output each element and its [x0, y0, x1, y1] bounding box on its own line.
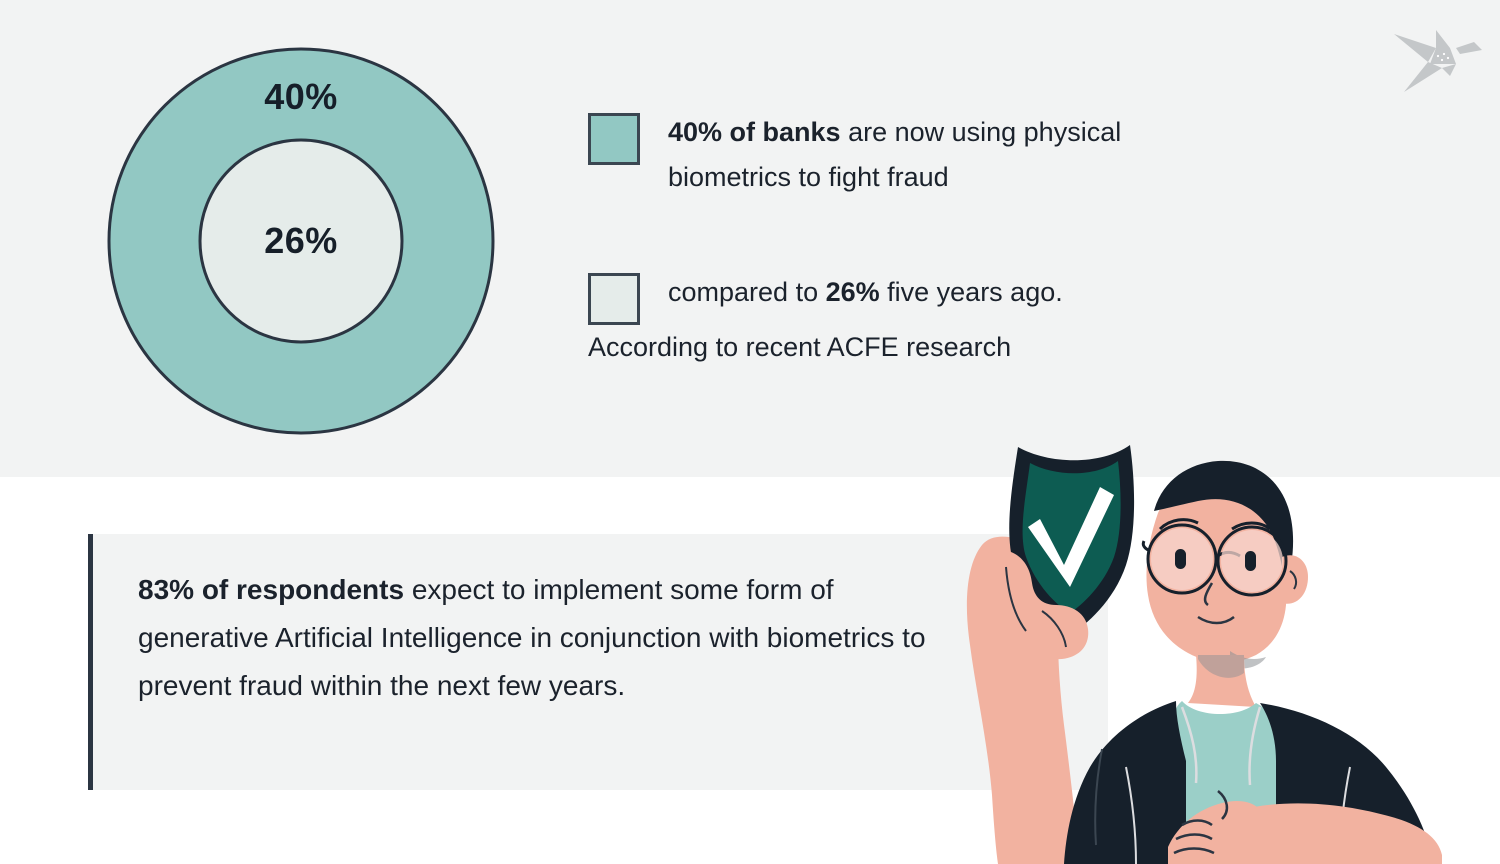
head [1143, 461, 1308, 669]
donut-outer-value: 40% [105, 76, 497, 118]
legend-lead-26: compared to [668, 277, 826, 307]
legend-text-prior: compared to 26% five years ago. [668, 270, 1228, 315]
quote-bold-lead: 83% of respondents [138, 574, 404, 605]
legend-bold-40: 40% of banks [668, 117, 841, 147]
legend-tail-26: five years ago. [880, 277, 1063, 307]
quote-text: 83% of respondents expect to implement s… [138, 566, 958, 710]
origami-bird-icon [1390, 18, 1486, 98]
legend-swatch-mint [588, 273, 640, 325]
infographic-canvas: 40% 26% 40% of banks are now using physi… [0, 0, 1500, 864]
donut-inner-value: 26% [105, 220, 497, 262]
chart-legend: 40% of banks are now using physical biom… [588, 110, 1228, 330]
legend-item-prior: compared to 26% five years ago. [588, 270, 1228, 330]
legend-text-banks: 40% of banks are now using physical biom… [668, 110, 1228, 200]
legend-bold-26: 26% [826, 277, 880, 307]
source-attribution: According to recent ACFE research [588, 332, 1011, 363]
legend-item-banks: 40% of banks are now using physical biom… [588, 110, 1228, 200]
donut-chart: 40% 26% [105, 45, 497, 437]
legend-swatch-teal [588, 113, 640, 165]
person-holding-security-shield-illustration [930, 415, 1500, 864]
